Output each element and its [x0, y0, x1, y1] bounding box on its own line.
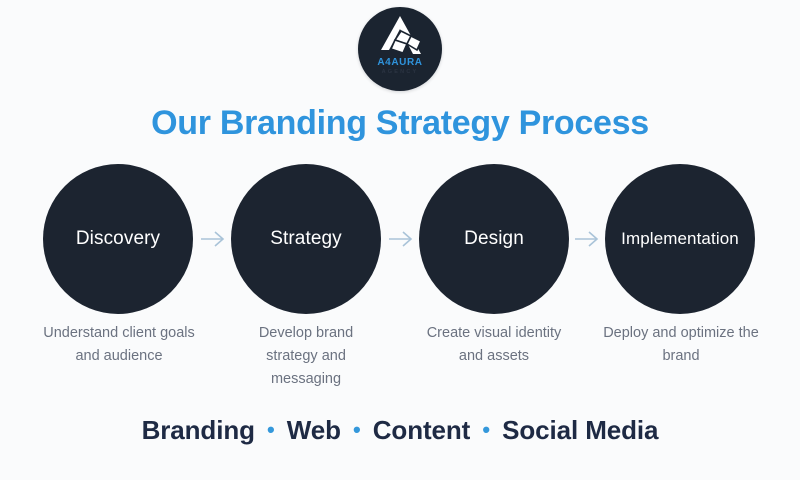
arrow-right-icon — [200, 228, 226, 250]
page-title: Our Branding Strategy Process — [0, 104, 800, 143]
process-step-circle-design[interactable]: Design — [419, 164, 569, 314]
logo-wordmark: A4AURA — [377, 58, 422, 68]
process-step-description-implementation: Deploy and optimize the brand — [596, 322, 766, 368]
tagline-separator: • — [477, 417, 495, 442]
process-step-label: Strategy — [270, 228, 342, 250]
process-step-circle-implementation[interactable]: Implementation — [605, 164, 755, 314]
process-descriptions-row: Understand client goals and audience Dev… — [0, 322, 800, 402]
process-step-circle-strategy[interactable]: Strategy — [231, 164, 381, 314]
tagline-separator: • — [348, 417, 366, 442]
brand-logo-badge: A4AURA AGENCY — [358, 7, 442, 91]
process-step-label: Discovery — [76, 228, 160, 250]
tagline-item-social-media: Social Media — [502, 415, 658, 445]
process-step-description-strategy: Develop brand strategy and messaging — [236, 322, 376, 391]
process-step-circle-discovery[interactable]: Discovery — [43, 164, 193, 314]
arrow-right-icon — [388, 228, 414, 250]
tagline-item-branding: Branding — [142, 415, 255, 445]
tagline-item-content: Content — [373, 415, 471, 445]
process-step-description-discovery: Understand client goals and audience — [38, 322, 200, 368]
tagline-separator: • — [262, 417, 280, 442]
process-step-description-design: Create visual identity and assets — [424, 322, 564, 368]
process-step-label: Design — [464, 228, 524, 250]
services-tagline: Branding • Web • Content • Social Media — [0, 415, 800, 446]
a-triangle-cube-logo-icon — [377, 15, 423, 57]
tagline-item-web: Web — [287, 415, 341, 445]
process-steps-row: Discovery Strategy Design Implementation — [0, 164, 800, 314]
arrow-right-icon — [574, 228, 600, 250]
logo-subword: AGENCY — [382, 70, 419, 76]
process-step-label: Implementation — [621, 229, 739, 249]
